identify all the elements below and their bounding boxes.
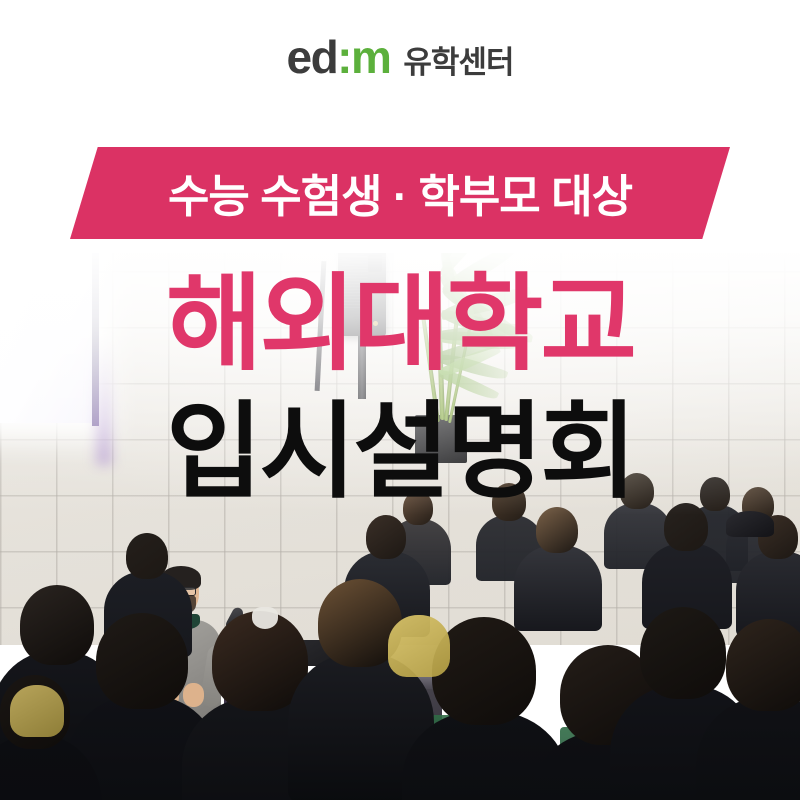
audience-head	[726, 619, 800, 711]
audience-head	[20, 585, 94, 665]
promo-poster: ed:m 유학센터 수능 수험생 · 학부모 대상 해외대학교 입시설명회	[0, 0, 800, 800]
knit-scarf	[388, 615, 450, 677]
ribbon-shape: 수능 수험생 · 학부모 대상	[70, 147, 730, 239]
logo-colon-text: :	[337, 31, 351, 83]
audience-head	[664, 503, 708, 551]
logo-m-text: m	[351, 31, 390, 83]
headline-line-2: 입시설명회	[0, 400, 800, 505]
logo-ed-text: ed	[286, 31, 337, 83]
logo-korean-text: 유학센터	[403, 37, 513, 82]
audience-head	[96, 613, 188, 709]
audience-head	[536, 507, 578, 553]
ribbon-label: 수능 수험생 · 학부모 대상	[168, 160, 632, 225]
brand-logo[interactable]: ed:m 유학센터	[0, 34, 800, 82]
audience-head	[640, 607, 726, 699]
target-audience-ribbon: 수능 수험생 · 학부모 대상	[0, 147, 800, 239]
audience-body	[514, 545, 602, 631]
presenter-hand-right	[183, 683, 204, 707]
logo-wordmark: ed:m	[286, 34, 390, 80]
knit-scarf	[10, 685, 64, 737]
face-mask	[252, 607, 278, 629]
baseball-cap	[726, 511, 774, 537]
audience-head	[126, 533, 168, 579]
audience-head	[366, 515, 406, 559]
headline-line-1: 해외대학교	[0, 272, 800, 377]
